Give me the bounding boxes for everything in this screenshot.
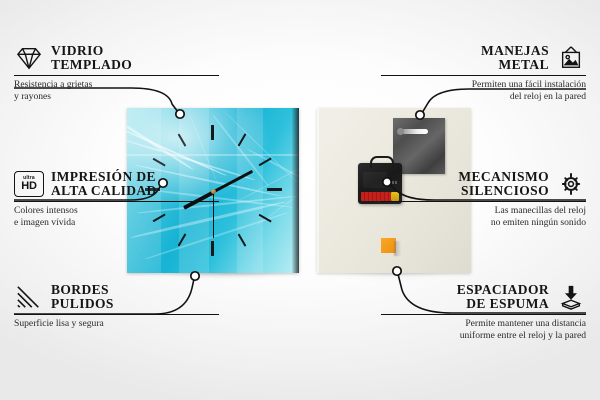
feature-bordes-pulidos: BORDES PULIDOS Superficie lisa y segura <box>14 283 219 330</box>
feature-description: Resistencia a grietas y rayones <box>14 79 219 104</box>
gear-icon <box>556 171 586 197</box>
feature-title-line1: IMPRESIÓN DE <box>51 170 156 184</box>
feature-divider <box>14 201 219 202</box>
picture-frame-hanger-icon <box>556 45 586 71</box>
feature-title-line1: VIDRIO <box>51 44 104 58</box>
feature-divider <box>381 201 586 202</box>
feature-title-line1: MANEJAS <box>481 44 549 58</box>
ultra-hd-icon-main-text: HD <box>21 181 37 192</box>
feature-divider <box>14 75 219 76</box>
feature-title-line2: DE ESPUMA <box>466 297 549 311</box>
feature-vidrio-templado: VIDRIO TEMPLADO Resistencia a grietas y … <box>14 44 219 103</box>
feature-description: Las manecillas del reloj no emiten ningú… <box>381 205 586 230</box>
feature-title-line1: BORDES <box>51 283 109 297</box>
feature-title-line2: PULIDOS <box>51 297 114 311</box>
feature-mecanismo-silencioso: MECANISMO SILENCIOSO Las manecillas del … <box>381 170 586 229</box>
feature-title-line2: ALTA CALIDAD <box>51 184 157 198</box>
feature-description: Permite mantener una distancia uniforme … <box>381 318 586 343</box>
feature-divider <box>381 314 586 315</box>
feature-title-line2: TEMPLADO <box>51 58 132 72</box>
feature-title-line2: METAL <box>498 58 549 72</box>
diagonal-lines-icon <box>14 284 44 310</box>
feature-description: Permiten una fácil instalación del reloj… <box>381 79 586 104</box>
feature-manejas-metal: MANEJAS METAL Permiten una fácil instala… <box>381 44 586 103</box>
infographic-canvas: VIDRIO TEMPLADO Resistencia a grietas y … <box>0 0 600 400</box>
diamond-icon <box>14 45 44 71</box>
feature-description: Colores intensos e imagen vívida <box>14 205 219 230</box>
hanger-keyhole <box>402 129 428 134</box>
down-arrow-layers-icon <box>556 284 586 310</box>
ultra-hd-icon: ultra HD <box>14 171 44 197</box>
glass-edge <box>292 108 299 273</box>
mechanism-loop <box>370 156 394 168</box>
feature-title-line2: SILENCIOSO <box>461 184 549 198</box>
hour-marker <box>267 188 282 191</box>
foam-spacer-part <box>381 238 396 253</box>
feature-divider <box>14 314 219 315</box>
feature-title-line1: ESPACIADOR <box>457 283 549 297</box>
feature-impresion-alta-calidad: ultra HD IMPRESIÓN DE ALTA CALIDAD Color… <box>14 170 219 229</box>
feature-espaciador-espuma: ESPACIADOR DE ESPUMA Permite mantener un… <box>381 283 586 342</box>
feature-description: Superficie lisa y segura <box>14 318 219 330</box>
feature-divider <box>381 75 586 76</box>
hour-marker <box>211 241 214 256</box>
hour-marker <box>211 125 214 140</box>
feature-title-line1: MECANISMO <box>458 170 549 184</box>
